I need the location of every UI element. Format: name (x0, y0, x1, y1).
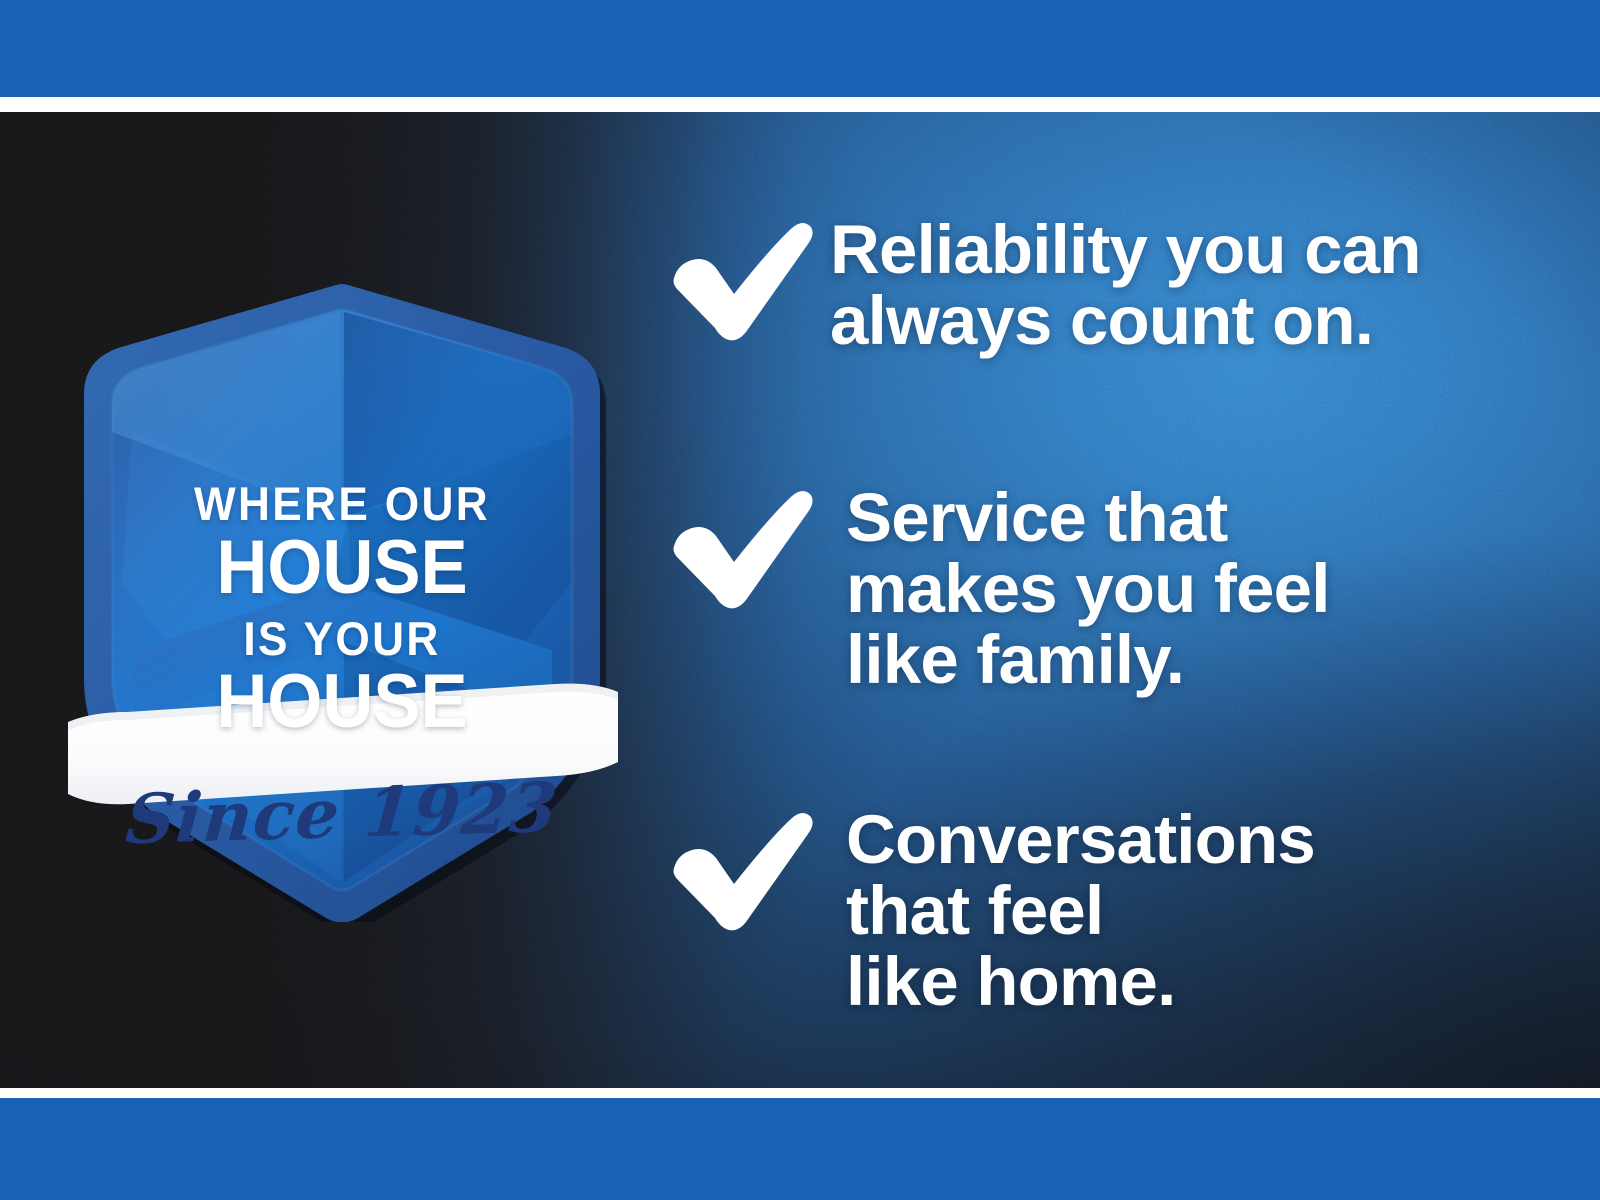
shield-tagline-line-4: HOUSE (82, 664, 603, 740)
shield-tagline-line-1: WHERE OUR (79, 480, 605, 527)
checkmark-icon (668, 804, 816, 934)
brand-bar-top (0, 0, 1600, 97)
benefit-text: Reliability you can always count on. (830, 214, 1548, 356)
benefit-item: Service that makes you feel like family. (668, 482, 1548, 804)
brand-bar-bottom (0, 1098, 1600, 1200)
benefit-text: Conversations that feel like home. (846, 804, 1548, 1017)
shield-banner-text: Since 1923 (59, 772, 624, 856)
shield-tagline-line-3: IS YOUR (79, 615, 605, 662)
checkmark-icon (668, 482, 816, 612)
promo-graphic: WHERE OUR HOUSE IS YOUR HOUSE Since 1923… (0, 0, 1600, 1200)
checkmark-icon (668, 214, 816, 344)
benefit-text: Service that makes you feel like family. (846, 482, 1548, 695)
benefit-item: Reliability you can always count on. (668, 214, 1548, 482)
content-stage: WHERE OUR HOUSE IS YOUR HOUSE Since 1923… (0, 112, 1600, 1088)
shield-tagline-line-2: HOUSE (82, 530, 603, 606)
benefit-item: Conversations that feel like home. (668, 804, 1548, 1088)
benefits-list: Reliability you can always count on. Ser… (668, 214, 1548, 1088)
shield-logo: WHERE OUR HOUSE IS YOUR HOUSE Since 1923 (62, 282, 622, 922)
